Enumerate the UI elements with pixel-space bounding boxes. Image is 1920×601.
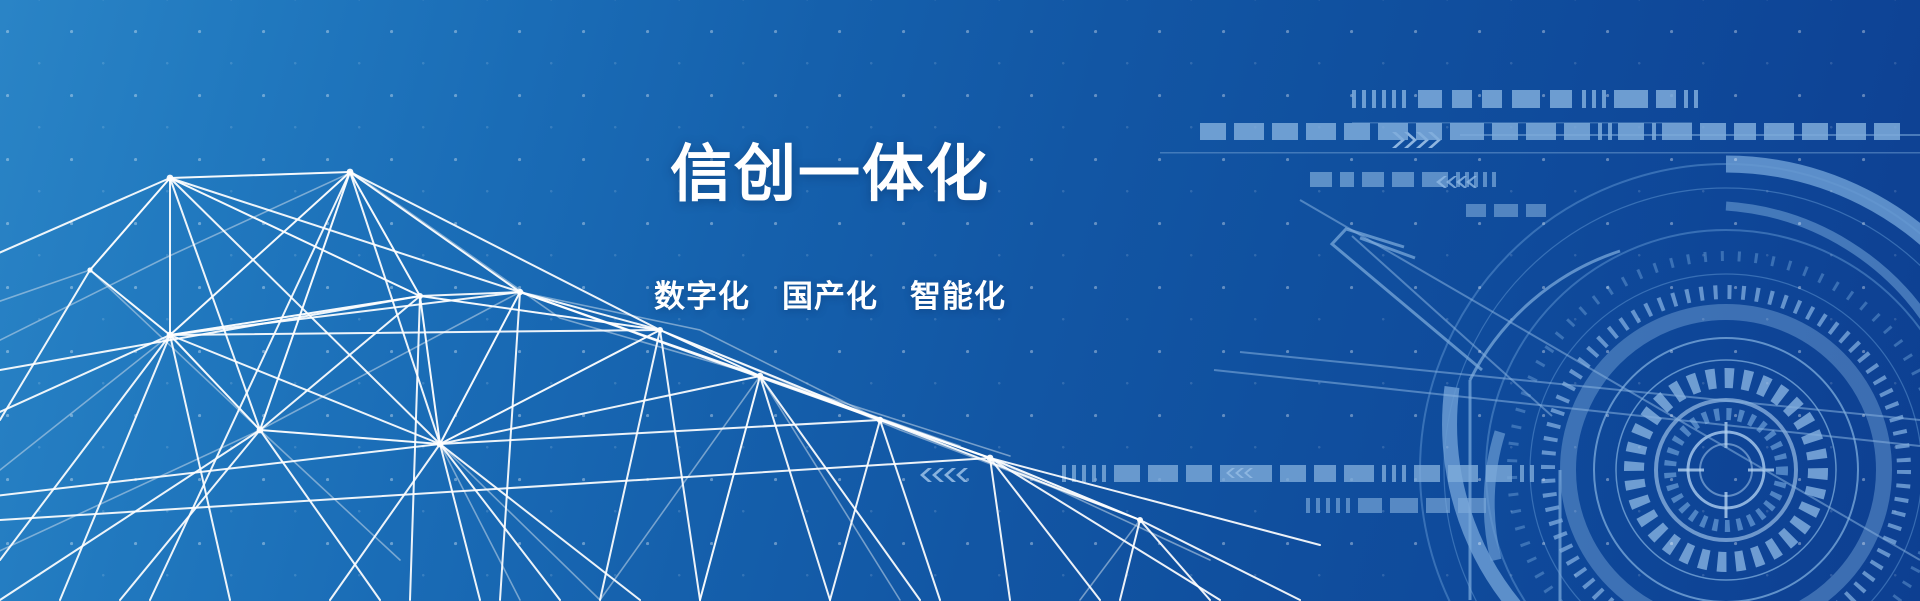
banner-root: 信创一体化 数字化 国产化 智能化 xyxy=(0,0,1920,601)
polygonal-network-mesh xyxy=(0,0,1920,601)
